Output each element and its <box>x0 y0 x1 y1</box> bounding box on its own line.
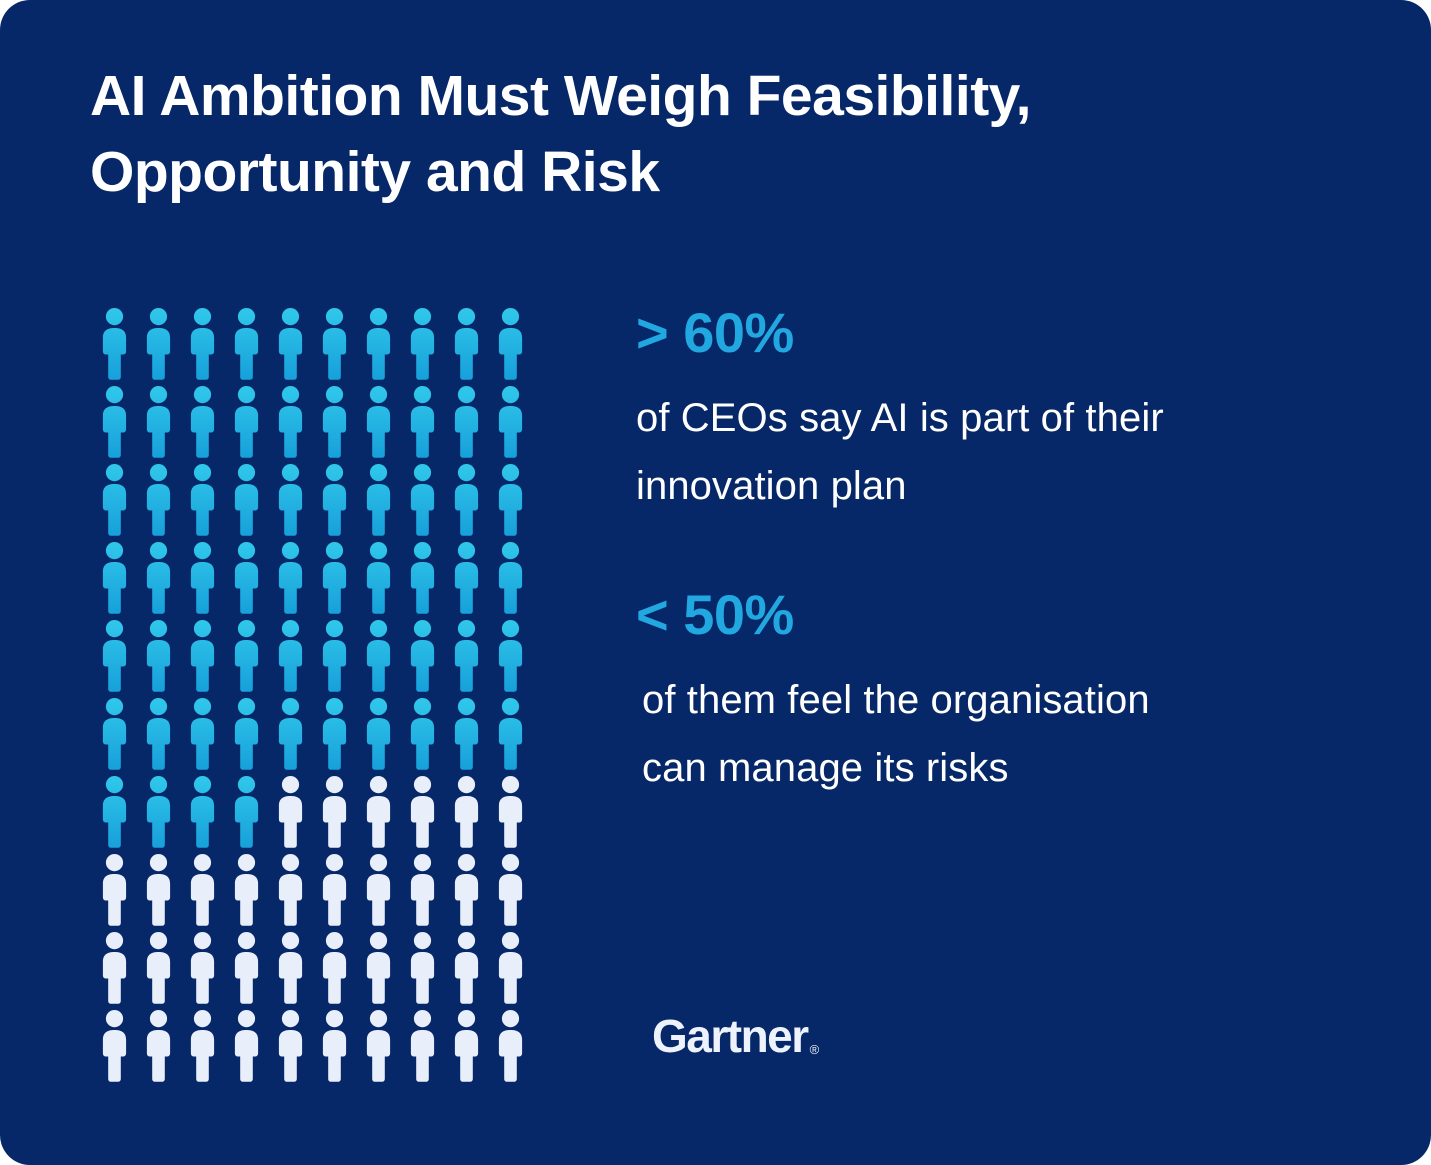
infographic-card: AI Ambition Must Weigh Feasibility, Oppo… <box>0 0 1431 1165</box>
person-icon-empty <box>450 774 494 852</box>
person-icon-filled <box>494 306 538 384</box>
stat-value: > 60% <box>636 300 1336 366</box>
person-icon-empty <box>450 930 494 1008</box>
person-icon-filled <box>362 306 406 384</box>
person-icon-filled <box>98 696 142 774</box>
person-icon-empty <box>362 930 406 1008</box>
person-icon-empty <box>274 1008 318 1086</box>
person-icon-filled <box>142 306 186 384</box>
stat-description: of CEOs say AI is part of their innovati… <box>636 384 1336 520</box>
person-icon-filled <box>186 384 230 462</box>
person-icon-filled <box>274 540 318 618</box>
person-icon-empty <box>274 774 318 852</box>
person-icon-empty <box>450 852 494 930</box>
person-icon-filled <box>142 774 186 852</box>
person-icon-empty <box>274 852 318 930</box>
person-icon-empty <box>142 930 186 1008</box>
person-icon-empty <box>406 852 450 930</box>
person-icon-filled <box>98 618 142 696</box>
person-icon-empty <box>494 1008 538 1086</box>
pictogram-row <box>98 462 538 540</box>
person-icon-filled <box>274 462 318 540</box>
person-icon-filled <box>450 306 494 384</box>
person-icon-filled <box>494 462 538 540</box>
person-icon-empty <box>494 852 538 930</box>
person-icon-filled <box>318 462 362 540</box>
person-icon-filled <box>230 696 274 774</box>
person-icon-filled <box>362 462 406 540</box>
person-icon-empty <box>142 1008 186 1086</box>
pictogram-row <box>98 774 538 852</box>
person-icon-empty <box>406 774 450 852</box>
person-icon-filled <box>230 540 274 618</box>
person-icon-empty <box>318 774 362 852</box>
person-icon-filled <box>98 540 142 618</box>
person-icon-filled <box>362 696 406 774</box>
person-icon-filled <box>318 618 362 696</box>
gartner-logo: Gartner ® <box>652 1013 819 1059</box>
pictogram-row <box>98 306 538 384</box>
person-icon-empty <box>142 852 186 930</box>
person-icon-filled <box>274 696 318 774</box>
pictogram-row <box>98 384 538 462</box>
person-icon-filled <box>406 384 450 462</box>
pictogram-row <box>98 852 538 930</box>
person-icon-empty <box>186 930 230 1008</box>
person-icon-filled <box>98 774 142 852</box>
person-icon-empty <box>230 1008 274 1086</box>
person-icon-filled <box>494 696 538 774</box>
person-icon-filled <box>230 306 274 384</box>
gartner-wordmark: Gartner <box>652 1013 808 1059</box>
person-icon-filled <box>142 384 186 462</box>
person-icon-filled <box>362 384 406 462</box>
person-icon-filled <box>406 618 450 696</box>
pictogram-grid <box>98 306 538 1076</box>
person-icon-empty <box>98 1008 142 1086</box>
person-icon-empty <box>406 1008 450 1086</box>
person-icon-filled <box>230 384 274 462</box>
person-icon-filled <box>494 540 538 618</box>
person-icon-filled <box>274 618 318 696</box>
person-icon-filled <box>494 384 538 462</box>
person-icon-filled <box>186 774 230 852</box>
person-icon-empty <box>494 774 538 852</box>
person-icon-filled <box>98 462 142 540</box>
person-icon-filled <box>186 306 230 384</box>
person-icon-empty <box>494 930 538 1008</box>
person-icon-filled <box>142 696 186 774</box>
person-icon-empty <box>318 1008 362 1086</box>
person-icon-filled <box>142 462 186 540</box>
stat-value: < 50% <box>636 582 1336 648</box>
person-icon-empty <box>362 774 406 852</box>
person-icon-filled <box>186 540 230 618</box>
person-icon-empty <box>318 852 362 930</box>
person-icon-empty <box>318 930 362 1008</box>
person-icon-filled <box>98 384 142 462</box>
stats-column: > 60% of CEOs say AI is part of their in… <box>636 300 1336 802</box>
person-icon-filled <box>406 540 450 618</box>
registered-trademark-icon: ® <box>810 1043 820 1056</box>
person-icon-filled <box>406 696 450 774</box>
person-icon-filled <box>450 462 494 540</box>
person-icon-filled <box>230 774 274 852</box>
person-icon-filled <box>406 306 450 384</box>
pictogram-row <box>98 540 538 618</box>
person-icon-empty <box>186 852 230 930</box>
person-icon-filled <box>142 540 186 618</box>
person-icon-filled <box>186 462 230 540</box>
person-icon-empty <box>450 1008 494 1086</box>
person-icon-empty <box>406 930 450 1008</box>
person-icon-filled <box>450 696 494 774</box>
pictogram-row <box>98 618 538 696</box>
person-icon-empty <box>230 930 274 1008</box>
person-icon-empty <box>362 852 406 930</box>
pictogram-row <box>98 696 538 774</box>
person-icon-filled <box>494 618 538 696</box>
person-icon-filled <box>274 384 318 462</box>
stat-block-ai-innovation: > 60% of CEOs say AI is part of their in… <box>636 300 1336 520</box>
person-icon-filled <box>450 384 494 462</box>
person-icon-empty <box>186 1008 230 1086</box>
person-icon-empty <box>98 930 142 1008</box>
person-icon-empty <box>98 852 142 930</box>
person-icon-filled <box>362 618 406 696</box>
person-icon-filled <box>318 306 362 384</box>
stat-description: of them feel the organisation can manage… <box>642 666 1336 802</box>
person-icon-filled <box>186 696 230 774</box>
person-icon-filled <box>142 618 186 696</box>
person-icon-filled <box>318 696 362 774</box>
person-icon-filled <box>318 540 362 618</box>
person-icon-filled <box>406 462 450 540</box>
person-icon-filled <box>318 384 362 462</box>
person-icon-filled <box>274 306 318 384</box>
person-icon-filled <box>98 306 142 384</box>
person-icon-empty <box>362 1008 406 1086</box>
stat-block-risk-management: < 50% of them feel the organisation can … <box>636 582 1336 802</box>
person-icon-empty <box>274 930 318 1008</box>
person-icon-filled <box>450 618 494 696</box>
person-icon-filled <box>230 462 274 540</box>
person-icon-empty <box>230 852 274 930</box>
page-title: AI Ambition Must Weigh Feasibility, Oppo… <box>90 58 1340 210</box>
pictogram-row <box>98 930 538 1008</box>
person-icon-filled <box>230 618 274 696</box>
person-icon-filled <box>450 540 494 618</box>
person-icon-filled <box>362 540 406 618</box>
person-icon-filled <box>186 618 230 696</box>
pictogram-row <box>98 1008 538 1086</box>
